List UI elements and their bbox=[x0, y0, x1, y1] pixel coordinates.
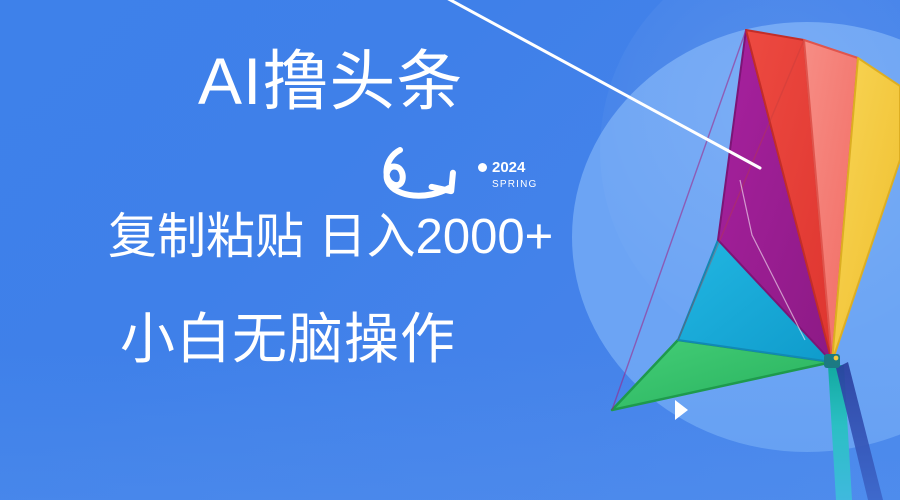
badge-year: 2024 bbox=[492, 160, 525, 175]
badge-season: SPRING bbox=[492, 180, 538, 190]
promo-poster: AI撸头条 2024 SPRING 复制粘贴 日入2000+ 小白无脑操作 bbox=[0, 0, 900, 500]
tagline: 小白无脑操作 bbox=[120, 312, 456, 367]
kite-panels bbox=[612, 30, 900, 410]
page-title: AI撸头条 bbox=[198, 48, 463, 114]
text-content: AI撸头条 2024 SPRING 复制粘贴 日入2000+ 小白无脑操作 bbox=[0, 0, 620, 500]
play-triangle-cursor-icon[interactable] bbox=[673, 398, 691, 424]
badge-year-row: 2024 bbox=[478, 160, 538, 175]
filled-circle-icon bbox=[478, 163, 487, 172]
kite-illustration bbox=[600, 10, 900, 500]
kite-knot bbox=[824, 354, 840, 368]
season-badge: 2024 SPRING bbox=[478, 160, 538, 190]
curly-arrow-icon bbox=[378, 144, 478, 206]
kite-tails bbox=[828, 362, 883, 500]
subheading: 复制粘贴 日入2000+ bbox=[108, 213, 553, 262]
